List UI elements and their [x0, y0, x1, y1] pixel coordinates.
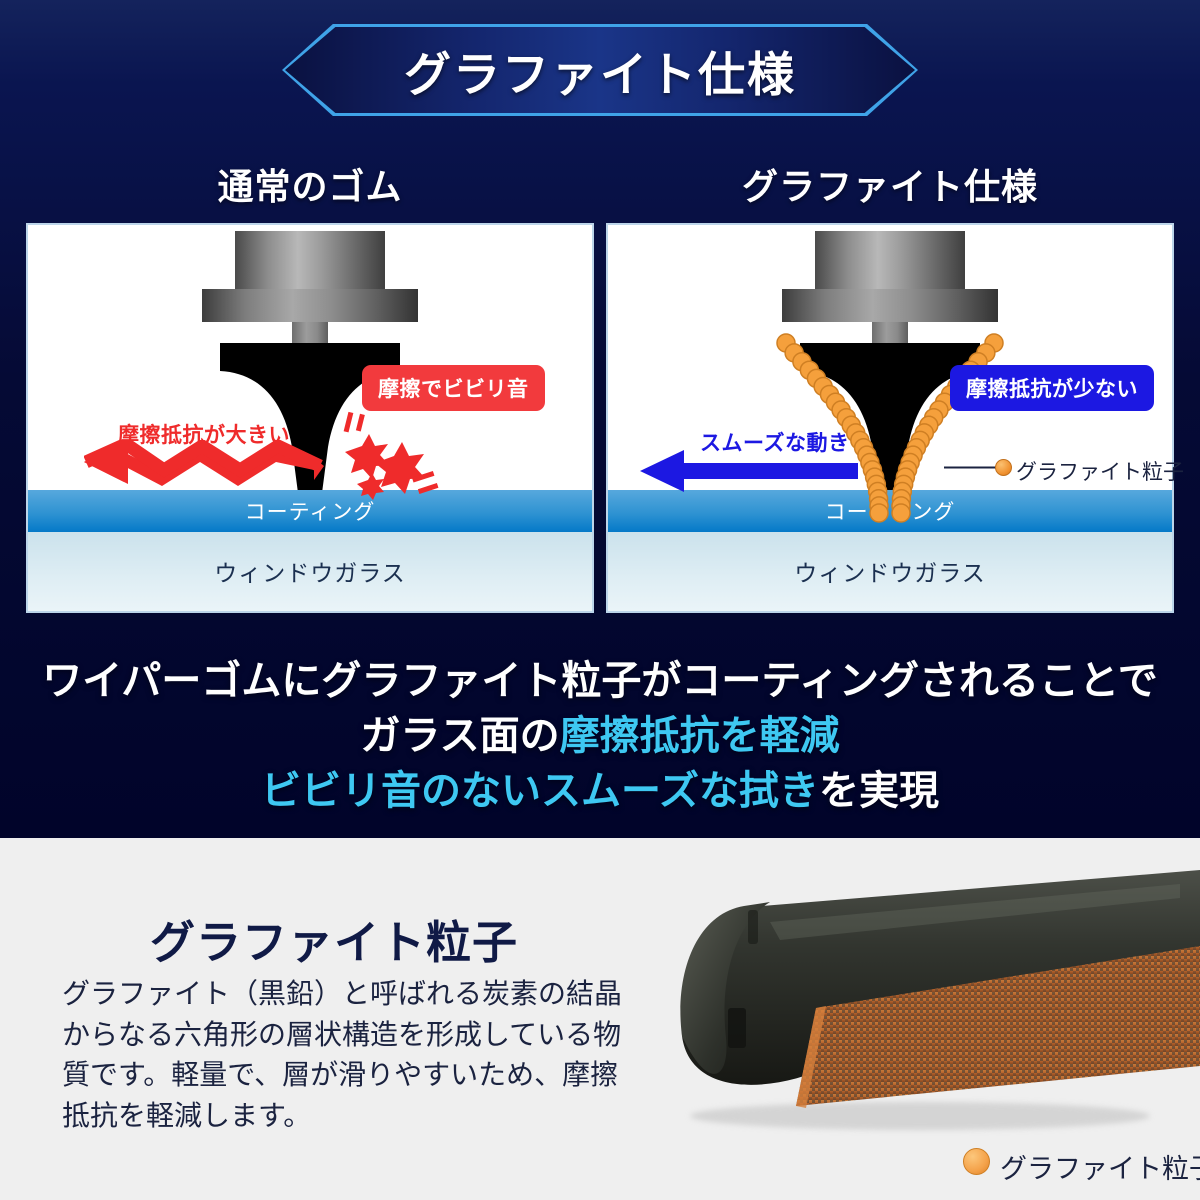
wiper-holder-flange-right — [782, 289, 998, 322]
bottom-body-text: グラファイト（黒鉛）と呼ばれる炭素の結晶からなる六角形の層状構造を形成している物… — [62, 974, 637, 1136]
graphite-particle-callout-label: グラファイト粒子 — [1016, 456, 1184, 486]
friction-spark-icon — [340, 410, 450, 500]
summary-line-1: ワイパーゴムにグラファイト粒子がコーティングされることで — [0, 648, 1200, 706]
summary-line-2-plain: ガラス面の — [360, 714, 559, 758]
bottom-heading: グラファイト粒子 — [150, 906, 518, 971]
top-section: グラファイト仕様 通常のゴム グラファイト仕様 コーティング ウィンドウガラス — [0, 0, 1200, 838]
low-friction-badge: 摩擦抵抗が少ない — [950, 365, 1154, 411]
header-banner: グラファイト仕様 — [282, 24, 918, 116]
coating-label-right: コーティング — [825, 496, 956, 526]
glass-label-left: ウィンドウガラス — [214, 554, 406, 588]
wiper-holder-neck — [292, 322, 328, 345]
friction-noise-badge: 摩擦でビビリ音 — [362, 365, 545, 411]
left-diagram-panel: コーティング ウィンドウガラス — [26, 223, 594, 613]
friction-zigzag-arrow-icon — [84, 440, 324, 492]
summary-line-3-plain: を実現 — [819, 769, 939, 813]
summary-line-2-highlight: 摩擦抵抗を軽減 — [560, 714, 840, 758]
coating-layer-right: コーティング — [608, 490, 1172, 532]
wiper-holder-top — [235, 231, 385, 293]
wiper-holder-flange — [202, 289, 418, 322]
summary-line-3-highlight: ビビリ音のないスムーズな拭き — [261, 769, 819, 813]
glass-layer-left: ウィンドウガラス — [28, 532, 592, 611]
summary-line-2: ガラス面の摩擦抵抗を軽減 — [0, 703, 1200, 761]
legend-graphite-label: グラファイト粒子 — [1000, 1147, 1200, 1186]
banner-title: グラファイト仕様 — [282, 24, 918, 116]
bottom-section: グラファイト粒子 グラファイト（黒鉛）と呼ばれる炭素の結晶からなる六角形の層状構… — [0, 838, 1200, 1200]
smooth-motion-arrow-icon — [640, 450, 858, 492]
coating-layer-left: コーティング — [28, 490, 592, 532]
product-photo — [620, 848, 1200, 1158]
wiper-holder-top-right — [815, 231, 965, 293]
right-panel-title: グラファイト仕様 — [606, 158, 1174, 210]
summary-line-3: ビビリ音のないスムーズな拭きを実現 — [0, 758, 1200, 816]
right-diagram-panel: コーティング ウィンドウガラス — [606, 223, 1174, 613]
graphite-particle-dot-icon — [995, 459, 1012, 476]
legend-graphite-dot-icon — [963, 1148, 990, 1175]
callout-leader-line — [944, 466, 998, 469]
glass-layer-right: ウィンドウガラス — [608, 532, 1172, 611]
wiper-holder-neck-right — [872, 322, 908, 345]
glass-label-right: ウィンドウガラス — [794, 554, 986, 588]
left-panel-title: 通常のゴム — [26, 158, 594, 210]
coating-label-left: コーティング — [245, 496, 376, 526]
